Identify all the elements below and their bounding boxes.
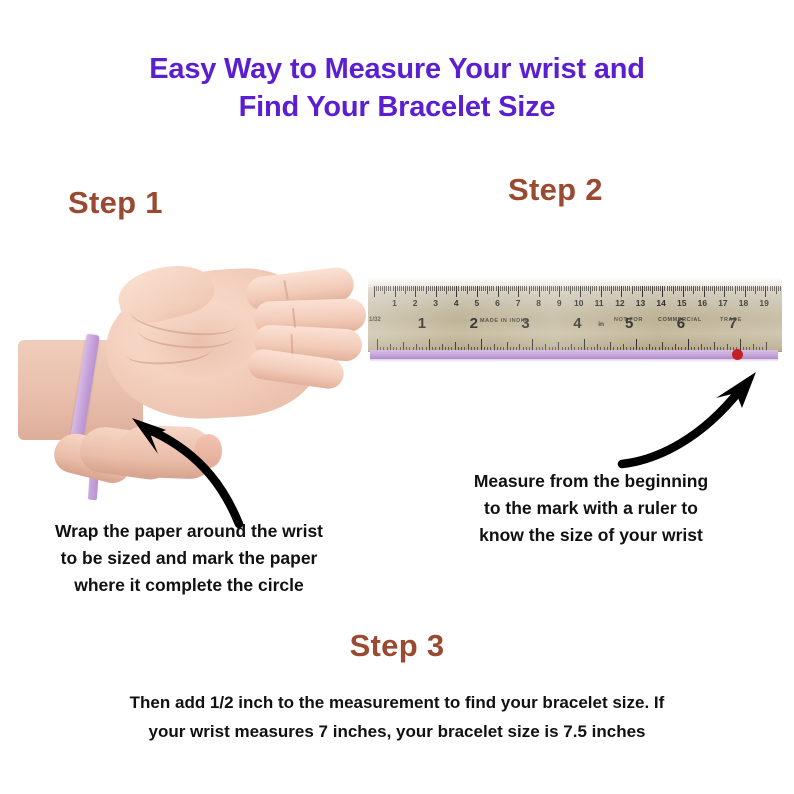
ruler-tick: [646, 286, 647, 291]
ruler-tick: [487, 286, 488, 294]
ruler-tick: [730, 286, 731, 291]
ruler-tick: [401, 286, 402, 291]
ruler-tick: [580, 286, 581, 297]
ruler-tick: [695, 286, 696, 291]
ruler-tick: [739, 286, 740, 291]
ruler-cm-number: 16: [698, 299, 707, 308]
ruler-tick: [654, 286, 655, 291]
ruler-tick: [724, 286, 725, 297]
ruler-tick: [510, 286, 511, 291]
ruler-tick: [450, 286, 451, 291]
ruler-tick: [660, 286, 661, 291]
step-1-caption-line-3: where it complete the circle: [8, 572, 370, 599]
step-1-heading: Step 1: [68, 185, 163, 221]
ruler-cm-number: 6: [495, 299, 500, 308]
ruler-tick: [403, 286, 404, 291]
ruler-tick: [605, 286, 606, 291]
ruler-tick: [627, 286, 628, 291]
ruler-tick: [675, 286, 676, 291]
ruler-tick: [652, 286, 653, 294]
ruler-tick: [693, 286, 694, 294]
ruler-tick: [714, 286, 715, 294]
ruler-tick: [765, 286, 766, 297]
ruler-cm-number: 17: [718, 299, 727, 308]
ruler-tick: [716, 286, 717, 291]
ruler-tick: [712, 286, 713, 291]
ruler-tick: [708, 286, 709, 291]
step-3-caption: Then add 1/2 inch to the measurement to …: [52, 688, 742, 746]
ruler-tick: [568, 286, 569, 291]
ruler-tick: [749, 286, 750, 291]
ruler-tick: [572, 286, 573, 291]
ruler-tick: [629, 286, 630, 291]
ruler-tick: [671, 286, 672, 291]
ruler-tick: [376, 286, 377, 291]
step-3-heading: Step 3: [0, 628, 794, 664]
ruler-inch-number: 4: [573, 316, 581, 331]
ruler-engraved-text: NOT FOR: [614, 317, 643, 323]
ruler-tick: [535, 286, 536, 291]
ruler-tick: [481, 286, 482, 291]
ruler-tick: [590, 286, 591, 294]
ruler-cm-number: 13: [636, 299, 645, 308]
step-2-caption-line-3: know the size of your wrist: [410, 522, 772, 549]
ruler-tick: [687, 286, 688, 291]
red-measurement-mark: [732, 349, 743, 360]
ruler-tick: [413, 286, 414, 291]
ruler-tick: [658, 286, 659, 291]
infographic-canvas: Easy Way to Measure Your wrist and Find …: [0, 0, 794, 794]
ruler-tick: [559, 286, 560, 297]
ruler-tick: [432, 286, 433, 291]
ruler-tick: [390, 286, 391, 291]
ruler-inch-unit-label: in: [598, 322, 604, 329]
ruler-engraved-text: COMMERCIAL: [658, 317, 702, 323]
ruler-tick: [697, 286, 698, 291]
ruler-tick: [543, 286, 544, 291]
ruler-tick: [518, 286, 519, 297]
ruler-tick: [615, 286, 616, 291]
ruler-tick: [704, 286, 705, 297]
ruler-tick: [644, 286, 645, 291]
ruler-cm-number: 1: [392, 299, 397, 308]
ruler-tick: [642, 286, 643, 297]
ruler-tick: [763, 286, 764, 291]
ruler-engraved-text: MADE IN INDIA: [480, 318, 528, 324]
ruler-scale-marks: 1234567891011121314151617181912345671/32…: [368, 286, 782, 352]
ruler-tick: [770, 286, 771, 291]
ruler-tick: [483, 286, 484, 291]
ruler-tick: [529, 286, 530, 294]
ruler-tick: [710, 286, 711, 291]
ruler-tick: [374, 286, 375, 297]
step-1-caption: Wrap the paper around the wrist to be si…: [8, 518, 370, 599]
ruler-tick: [648, 286, 649, 291]
ruler-engraved-text: TRADE: [720, 317, 742, 323]
ruler-tick: [477, 286, 478, 297]
ruler-tick: [582, 286, 583, 291]
ruler-fraction-label: 1/32: [369, 317, 381, 323]
ruler-tick: [514, 286, 515, 291]
ruler-tick: [436, 286, 437, 297]
ruler-cm-number: 12: [615, 299, 624, 308]
ruler-tick: [397, 286, 398, 291]
ruler-tick: [504, 286, 505, 291]
ruler-tick: [737, 286, 738, 291]
ruler-tick: [679, 286, 680, 291]
ruler-tick: [578, 286, 579, 291]
ruler-tick: [751, 286, 752, 291]
ruler-tick: [650, 286, 651, 291]
ruler-tick: [584, 286, 585, 291]
ruler-tick: [557, 286, 558, 291]
ruler-tick: [502, 286, 503, 291]
ruler-tick: [735, 286, 736, 294]
ruler-tick: [448, 286, 449, 291]
ruler-tick: [683, 286, 684, 297]
ruler-tick: [442, 286, 443, 291]
ruler-tick: [720, 286, 721, 291]
ruler-tick: [745, 286, 746, 297]
ruler-tick: [594, 286, 595, 291]
ruler-tick: [662, 286, 663, 297]
ruler-tick: [454, 286, 455, 291]
ruler-tick: [545, 286, 546, 291]
ruler-tick: [551, 286, 552, 291]
ruler-tick: [681, 286, 682, 291]
step-2-caption-line-2: to the mark with a ruler to: [410, 495, 772, 522]
ruler-tick: [419, 286, 420, 291]
ruler-tick: [506, 286, 507, 291]
step-2-caption-line-1: Measure from the beginning: [410, 468, 772, 495]
ruler-tick: [685, 286, 686, 291]
ruler-tick: [774, 286, 775, 291]
ruler-tick: [689, 286, 690, 291]
ruler-tick: [537, 286, 538, 291]
ruler-inch-number: 1: [418, 316, 426, 331]
page-title-line-2: Find Your Bracelet Size: [0, 88, 794, 126]
ruler-tick: [566, 286, 567, 291]
ruler-tick: [576, 286, 577, 291]
ruler-tick: [640, 286, 641, 291]
ruler-tick: [500, 286, 501, 291]
ruler-tick: [395, 286, 396, 297]
ruler-tick: [380, 286, 381, 291]
ruler-tick: [430, 286, 431, 291]
ruler-tick: [463, 286, 464, 291]
ruler-tick: [553, 286, 554, 291]
ruler-tick: [428, 286, 429, 291]
page-title: Easy Way to Measure Your wrist and Find …: [0, 50, 794, 126]
ruler-tick: [423, 286, 424, 291]
ruler-tick: [473, 286, 474, 291]
ruler-cm-number: 19: [759, 299, 768, 308]
ruler-tick: [491, 286, 492, 291]
ruler-tick: [601, 286, 602, 297]
ruler-tick: [512, 286, 513, 291]
ruler-tick: [465, 286, 466, 291]
ruler-tick: [747, 286, 748, 291]
curved-arrow-to-wrist-mark-icon: [118, 408, 308, 526]
ruler-tick: [603, 286, 604, 291]
ruler-tick: [405, 286, 406, 294]
ruler-tick: [456, 286, 457, 297]
step-3-caption-line-1: Then add 1/2 inch to the measurement to …: [52, 688, 742, 717]
ruler-tick: [667, 286, 668, 291]
ruler-tick: [496, 286, 497, 291]
ruler-tick: [426, 286, 427, 294]
page-title-line-1: Easy Way to Measure Your wrist and: [0, 50, 794, 88]
ruler-tick: [759, 286, 760, 291]
ruler-tick: [702, 286, 703, 291]
ruler-tick: [669, 286, 670, 291]
ruler-tick: [378, 286, 379, 291]
ruler-tick: [524, 286, 525, 291]
ruler-tick: [761, 286, 762, 291]
ruler-tick: [619, 286, 620, 291]
ruler-tick: [574, 286, 575, 291]
ruler-tick: [743, 286, 744, 291]
ruler-tick: [539, 286, 540, 297]
ruler-tick: [726, 286, 727, 291]
ruler-tick: [617, 286, 618, 291]
ruler-tick: [638, 286, 639, 291]
ruler-tick: [489, 286, 490, 291]
ruler-cm-number: 14: [656, 299, 665, 308]
ruler-tick: [706, 286, 707, 291]
ruler-cm-number: 4: [454, 299, 459, 308]
ruler-tick: [452, 286, 453, 291]
ruler-tick: [471, 286, 472, 291]
step-2-heading: Step 2: [508, 172, 603, 208]
ruler-tick: [609, 286, 610, 291]
ruler-tick: [586, 286, 587, 291]
ruler-tick: [564, 286, 565, 291]
ruler-tick: [718, 286, 719, 291]
ruler-tick: [570, 286, 571, 294]
ruler-tick: [498, 286, 499, 297]
ruler-tick: [656, 286, 657, 291]
ruler-tick: [407, 286, 408, 291]
ruler-tick: [549, 286, 550, 294]
ruler-tick: [541, 286, 542, 291]
ruler-tick: [475, 286, 476, 291]
ruler-inch-number: 2: [470, 316, 478, 331]
ruler-tick: [520, 286, 521, 291]
ruler-tick: [409, 286, 410, 291]
ruler-tick: [516, 286, 517, 291]
ruler-tick: [444, 286, 445, 291]
ruler-tick: [753, 286, 754, 291]
ruler-tick: [446, 286, 447, 294]
ruler-tick: [417, 286, 418, 291]
ruler-tick: [588, 286, 589, 291]
ruler-tick: [778, 286, 779, 291]
ruler-tick: [599, 286, 600, 291]
ruler-tick: [388, 286, 389, 291]
ruler-tick: [728, 286, 729, 291]
ruler-tick: [526, 286, 527, 291]
ruler-tick: [613, 286, 614, 291]
ruler-tick: [636, 286, 637, 291]
step-2-caption: Measure from the beginning to the mark w…: [410, 468, 772, 549]
ruler-tick: [531, 286, 532, 291]
ruler-cm-number: 7: [516, 299, 521, 308]
ruler-tick: [493, 286, 494, 291]
ruler-tick: [722, 286, 723, 291]
ruler-cm-number: 5: [475, 299, 480, 308]
ruler-tick: [386, 286, 387, 291]
ruler-tick: [592, 286, 593, 291]
ruler-tick: [767, 286, 768, 291]
ruler-tick: [421, 286, 422, 291]
ruler-tick: [741, 286, 742, 291]
ruler-tick: [625, 286, 626, 291]
ruler-tick: [732, 286, 733, 291]
ruler-tick: [772, 286, 773, 291]
ruler-tick: [757, 286, 758, 291]
ruler-cm-number: 18: [739, 299, 748, 308]
ruler-tick: [411, 286, 412, 291]
ruler-tick: [555, 286, 556, 291]
ruler-with-paper-strip-photo: 1234567891011121314151617181912345671/32…: [368, 278, 782, 366]
ruler-tick: [522, 286, 523, 291]
ruler-tick: [596, 286, 597, 291]
ruler-tick: [415, 286, 416, 297]
ruler-cm-number: 11: [595, 299, 604, 308]
ruler-tick: [479, 286, 480, 291]
ruler-cm-number: 10: [574, 299, 583, 308]
ruler-tick: [621, 286, 622, 297]
ruler-tick: [664, 286, 665, 291]
ruler-tick: [611, 286, 612, 294]
ruler-tick: [547, 286, 548, 291]
paper-strip-shadow: [370, 358, 778, 362]
ruler-tick: [561, 286, 562, 291]
ruler-tick: [440, 286, 441, 291]
step-1-caption-line-2: to be sized and mark the paper: [8, 545, 370, 572]
ruler-tick: [485, 286, 486, 291]
ruler-cm-number: 3: [433, 299, 438, 308]
ruler-tick: [634, 286, 635, 291]
ruler-tick: [780, 286, 781, 291]
ruler-tick: [461, 286, 462, 291]
ruler-tick: [508, 286, 509, 294]
ruler-tick: [755, 286, 756, 294]
ruler-cm-number: 8: [536, 299, 541, 308]
ruler-tick: [438, 286, 439, 291]
ruler-tick: [434, 286, 435, 291]
ruler-cm-number: 15: [677, 299, 686, 308]
ruler-tick: [673, 286, 674, 294]
ruler-tick: [393, 286, 394, 291]
ruler-tick: [623, 286, 624, 291]
ruler-tick: [458, 286, 459, 291]
ruler-tick: [607, 286, 608, 291]
curved-arrow-to-ruler-mark-icon: [618, 368, 778, 474]
ruler-cm-number: 9: [557, 299, 562, 308]
ruler-tick: [467, 286, 468, 294]
step-1-caption-line-1: Wrap the paper around the wrist: [8, 518, 370, 545]
ruler-tick: [776, 286, 777, 294]
ruler-tick: [632, 286, 633, 294]
step-3-caption-line-2: your wrist measures 7 inches, your brace…: [52, 717, 742, 746]
ruler-tick: [384, 286, 385, 294]
ruler-tick: [691, 286, 692, 291]
ruler-tick: [469, 286, 470, 291]
ruler-tick: [533, 286, 534, 291]
ruler-tick: [699, 286, 700, 291]
ruler-tick: [399, 286, 400, 291]
ruler-cm-number: 2: [413, 299, 418, 308]
ruler-tick: [382, 286, 383, 291]
ruler-tick: [677, 286, 678, 291]
